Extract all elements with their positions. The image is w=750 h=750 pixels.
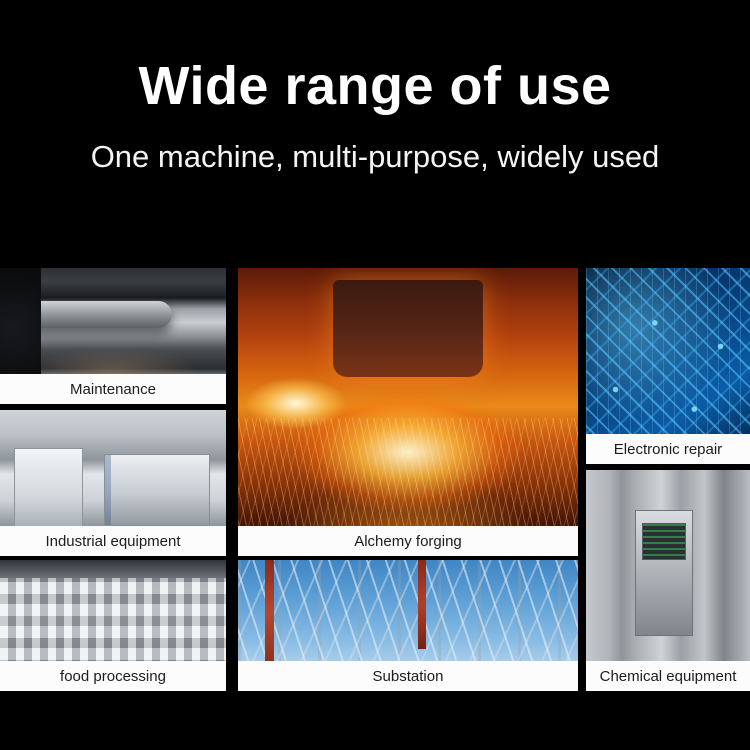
gallery-item-alchemy-forging[interactable]: Alchemy forging [238,268,578,556]
gallery-item-electronic-repair[interactable]: Electronic repair [586,268,750,464]
gallery-caption-chemical-equipment: Chemical equipment [586,661,750,691]
gallery-caption-alchemy-forging: Alchemy forging [238,526,578,556]
page-title: Wide range of use [0,58,750,115]
gallery-caption-industrial-equipment: Industrial equipment [0,526,226,556]
gallery-caption-food-processing: food processing [0,661,226,691]
gallery-item-industrial-equipment[interactable]: Industrial equipment [0,410,226,556]
use-case-gallery: Maintenance Industrial equipment food pr… [0,268,750,691]
gallery-caption-electronic-repair: Electronic repair [586,434,750,464]
gallery-item-food-processing[interactable]: food processing [0,560,226,691]
gallery-item-substation[interactable]: Substation [238,560,578,691]
gallery-caption-substation: Substation [238,661,578,691]
photo-control-cabinets [586,470,750,691]
gallery-item-maintenance[interactable]: Maintenance [0,268,226,404]
page-subtitle: One machine, multi-purpose, widely used [0,140,750,174]
gallery-caption-maintenance: Maintenance [0,374,226,404]
photo-molten-metal-pour [238,268,578,556]
promo-poster: Wide range of use One machine, multi-pur… [0,0,750,750]
gallery-item-chemical-equipment[interactable]: Chemical equipment [586,470,750,691]
poster-header: Wide range of use One machine, multi-pur… [0,0,750,268]
